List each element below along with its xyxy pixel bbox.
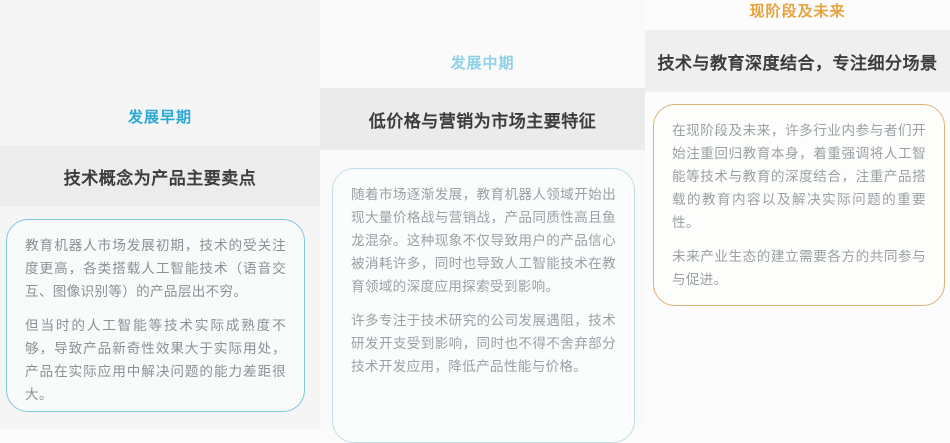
stage-headline-early: 技术概念为产品主要卖点 bbox=[0, 146, 320, 206]
stage-body-card-middle: 随着市场逐渐发展，教育机器人领域开始出现大量价格战与营销战，产品同质性高且鱼龙混… bbox=[332, 168, 635, 443]
stage-body-card-current: 在现阶段及未来，许多行业内参与者们开始注重回归教育本身，着重强调将人工智能等技术… bbox=[653, 104, 945, 306]
stage-paragraph: 在现阶段及未来，许多行业内参与者们开始注重回归教育本身，着重强调将人工智能等技术… bbox=[672, 119, 926, 234]
stage-paragraph: 随着市场逐渐发展，教育机器人领域开始出现大量价格战与营销战，产品同质性高且鱼龙混… bbox=[351, 183, 616, 298]
stage-headline-current: 技术与教育深度结合，专注细分场景 bbox=[645, 30, 950, 92]
stage-label-early: 发展早期 bbox=[0, 108, 320, 128]
stage-headline-early-text: 技术概念为产品主要卖点 bbox=[64, 164, 257, 189]
stage-headline-middle: 低价格与营销为市场主要特征 bbox=[320, 88, 645, 150]
stage-body-card-early: 教育机器人市场发展初期，技术的受关注度更高，各类搭载人工智能技术（语音交互、图像… bbox=[6, 219, 305, 412]
stage-paragraph: 教育机器人市场发展初期，技术的受关注度更高，各类搭载人工智能技术（语音交互、图像… bbox=[25, 234, 286, 303]
infographic-stage: 发展早期 技术概念为产品主要卖点 教育机器人市场发展初期，技术的受关注度更高，各… bbox=[0, 0, 950, 429]
stage-paragraph: 未来产业生态的建立需要各方的共同参与与促进。 bbox=[672, 245, 926, 291]
stage-headline-middle-text: 低价格与营销为市场主要特征 bbox=[369, 107, 597, 132]
stage-paragraph: 许多专注于技术研究的公司发展遇阻，技术研发开支受到影响，同时也不得不舍弃部分技术… bbox=[351, 309, 616, 378]
stage-paragraph: 但当时的人工智能等技术实际成熟度不够，导致产品新奇性效果大于实际用处，产品在实际… bbox=[25, 314, 286, 406]
stage-headline-current-text: 技术与教育深度结合，专注细分场景 bbox=[658, 49, 938, 74]
stage-label-current: 现阶段及未来 bbox=[645, 2, 950, 22]
stage-label-middle: 发展中期 bbox=[320, 54, 645, 74]
